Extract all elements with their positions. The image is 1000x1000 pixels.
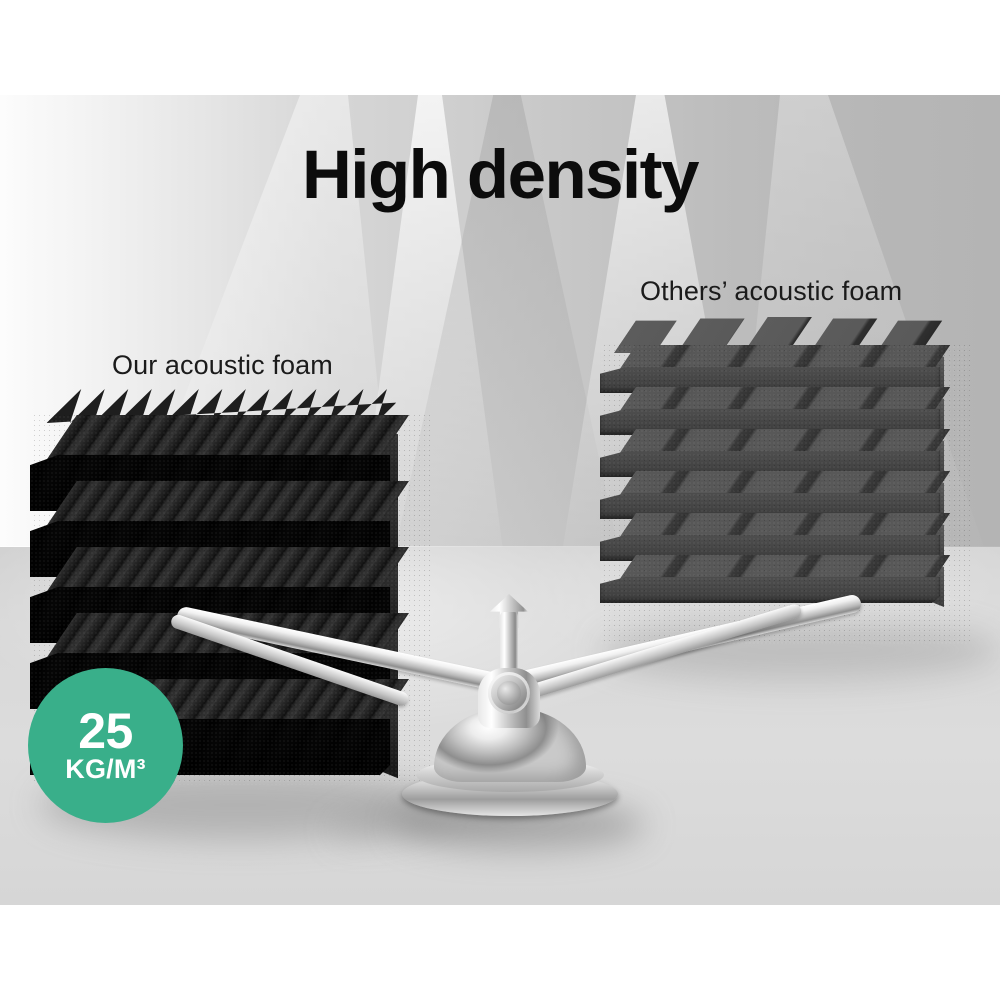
foam-panel <box>600 513 940 561</box>
label-others-foam: Others’ acoustic foam <box>640 276 902 307</box>
foam-panel <box>600 345 940 393</box>
foam-panel <box>600 429 940 477</box>
bottom-white-band <box>0 905 1000 1000</box>
density-badge: 25 KG/M³ <box>28 668 183 823</box>
balance-scale <box>330 590 690 840</box>
density-unit: KG/M³ <box>65 755 145 783</box>
page-title: High density <box>0 140 1000 209</box>
label-our-foam: Our acoustic foam <box>112 350 333 381</box>
density-value: 25 <box>78 707 133 755</box>
product-comparison-image: 25 KG/M³ Our acoustic foam Others’ acous… <box>0 0 1000 1000</box>
foam-panel <box>600 387 940 435</box>
foam-panel <box>600 471 940 519</box>
top-white-band <box>0 0 1000 95</box>
scale-pivot-bolt-inner <box>497 681 521 705</box>
